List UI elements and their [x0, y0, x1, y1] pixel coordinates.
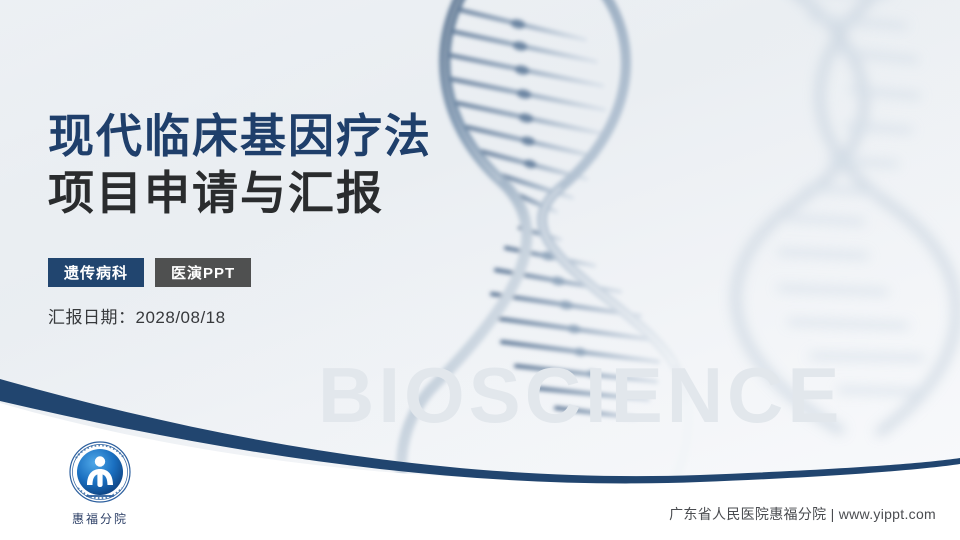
- report-date: 汇报日期：2028/08/18: [48, 303, 226, 328]
- tag-row: 遗传病科 医演PPT: [48, 258, 251, 287]
- hospital-logo-name: 惠福分院: [40, 510, 160, 527]
- title-line-2: 项目申请与汇报: [48, 165, 432, 222]
- tag-template[interactable]: 医演PPT: [155, 258, 251, 287]
- title-line-1: 现代临床基因疗法: [48, 108, 432, 165]
- tag-department[interactable]: 遗传病科: [48, 258, 144, 287]
- page-title: 现代临床基因疗法 项目申请与汇报: [48, 108, 432, 222]
- presentation-title-slide: BIOSCIENCE 现代临床基因疗法 项目申请与汇报 遗传病科 医演PPT 汇…: [0, 0, 960, 540]
- hospital-logo: 惠福分院: [40, 438, 160, 530]
- footer-text: 广东省人民医院惠福分院 | www.yippt.com: [669, 504, 936, 524]
